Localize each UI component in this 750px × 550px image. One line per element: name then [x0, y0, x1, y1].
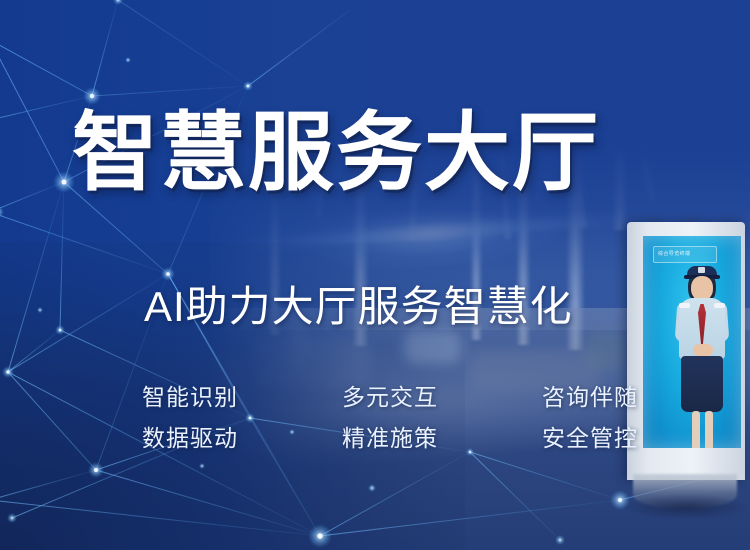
feature-tag-multimodal-interaction: 多元交互	[307, 386, 472, 409]
feature-tag-intelligent-recognition: 智能识别	[142, 386, 307, 409]
feature-tag-data-driven: 数据驱动	[142, 427, 307, 450]
smart-service-hall-banner: 虚 拟 迎 综合导览终端	[0, 0, 750, 550]
feature-tag-consultation-companion: 咨询伴随	[473, 386, 638, 409]
banner-content: 智慧服务大厅 AI助力大厅服务智慧化 智能识别 多元交互 咨询伴随 数据驱动 精…	[0, 0, 750, 550]
banner-title: 智慧服务大厅	[72, 110, 600, 196]
feature-tag-precise-policy: 精准施策	[307, 427, 472, 450]
banner-subtitle: AI助力大厅服务智慧化	[144, 286, 573, 328]
feature-tag-security-control: 安全管控	[473, 427, 638, 450]
feature-tag-list: 智能识别 多元交互 咨询伴随 数据驱动 精准施策 安全管控	[142, 386, 638, 450]
